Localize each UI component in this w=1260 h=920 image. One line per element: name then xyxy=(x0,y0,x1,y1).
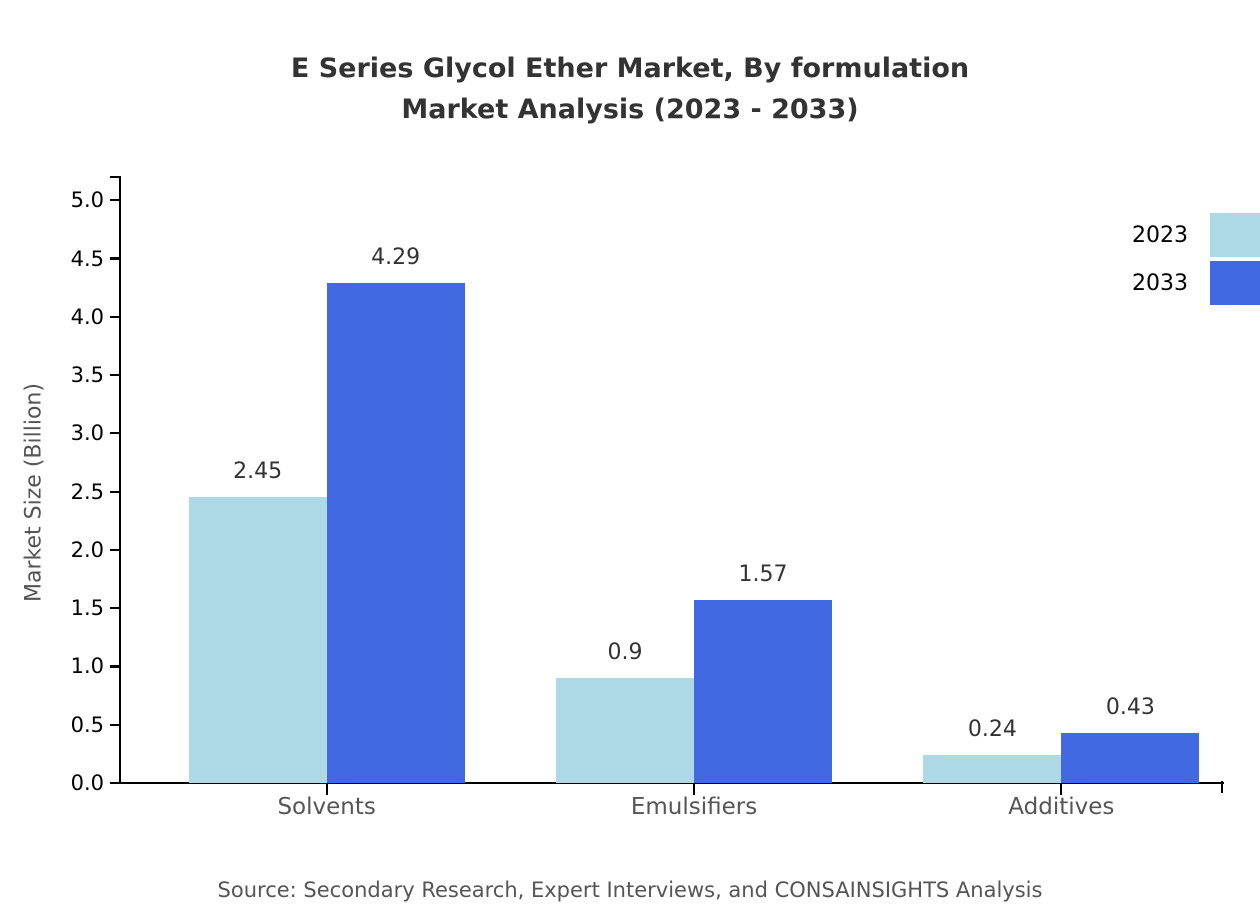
y-axis-ticks: 0.00.51.01.52.02.53.03.54.04.55.0 xyxy=(0,0,121,920)
y-axis-tick-label: 3.0 xyxy=(71,421,104,445)
legend-label-2023: 2023 xyxy=(1100,223,1210,248)
bar-additives-2033[interactable] xyxy=(1061,733,1199,783)
bar-value-label: 4.29 xyxy=(371,245,420,270)
bar-additives-2023[interactable] xyxy=(923,755,1061,783)
chart-title: E Series Glycol Ether Market, By formula… xyxy=(0,48,1260,130)
source-note: Source: Secondary Research, Expert Inter… xyxy=(0,878,1260,902)
y-axis-tick-label: 5.0 xyxy=(71,188,104,212)
bar-emulsifiers-2033[interactable] xyxy=(694,600,832,783)
bar-emulsifiers-2023[interactable] xyxy=(556,678,694,783)
bar-value-label: 0.24 xyxy=(968,717,1017,742)
y-axis-tick xyxy=(110,374,121,376)
y-axis-tick xyxy=(110,549,121,551)
y-axis-tick-label: 2.5 xyxy=(71,480,104,504)
y-axis-tick xyxy=(110,316,121,318)
y-axis-tick-label: 1.5 xyxy=(71,596,104,620)
x-axis-label-additives: Additives xyxy=(1008,794,1114,820)
y-axis-tick-label: 1.0 xyxy=(71,654,104,678)
x-axis-label-emulsifiers: Emulsifiers xyxy=(631,794,757,820)
legend-label-2033: 2033 xyxy=(1100,271,1210,296)
legend-item-2033[interactable]: 2033 xyxy=(1100,261,1260,305)
y-axis-tick-label: 4.0 xyxy=(71,305,104,329)
y-axis-tick xyxy=(110,432,121,434)
y-axis-tick xyxy=(110,257,121,259)
bar-solvents-2033[interactable] xyxy=(327,283,465,783)
y-axis-tick-label: 0.5 xyxy=(71,713,104,737)
y-axis-tick-label: 3.5 xyxy=(71,363,104,387)
legend-swatch-2033 xyxy=(1210,261,1260,305)
bar-solvents-2023[interactable] xyxy=(189,497,327,783)
legend-item-2023[interactable]: 2023 xyxy=(1100,213,1260,257)
y-axis-tick-label: 2.0 xyxy=(71,538,104,562)
x-axis-label-solvents: Solvents xyxy=(277,794,375,820)
plot-area: 2.454.290.91.570.240.43 xyxy=(121,177,1223,783)
y-axis-tick xyxy=(110,199,121,201)
y-axis-tick-label: 4.5 xyxy=(71,247,104,271)
legend-swatch-2023 xyxy=(1210,213,1260,257)
bar-value-label: 0.9 xyxy=(608,640,643,665)
y-axis-tick-label: 0.0 xyxy=(71,771,104,795)
bar-value-label: 2.45 xyxy=(233,459,282,484)
chart-figure: E Series Glycol Ether Market, By formula… xyxy=(0,0,1260,920)
y-axis-tick xyxy=(110,665,121,667)
y-axis-tick xyxy=(110,724,121,726)
y-axis-tick xyxy=(110,491,121,493)
y-axis-tick xyxy=(110,782,121,784)
bar-value-label: 0.43 xyxy=(1106,695,1155,720)
y-axis-label: Market Size (Billion) xyxy=(22,193,47,793)
bar-value-label: 1.57 xyxy=(739,562,788,587)
y-axis-tick xyxy=(110,607,121,609)
